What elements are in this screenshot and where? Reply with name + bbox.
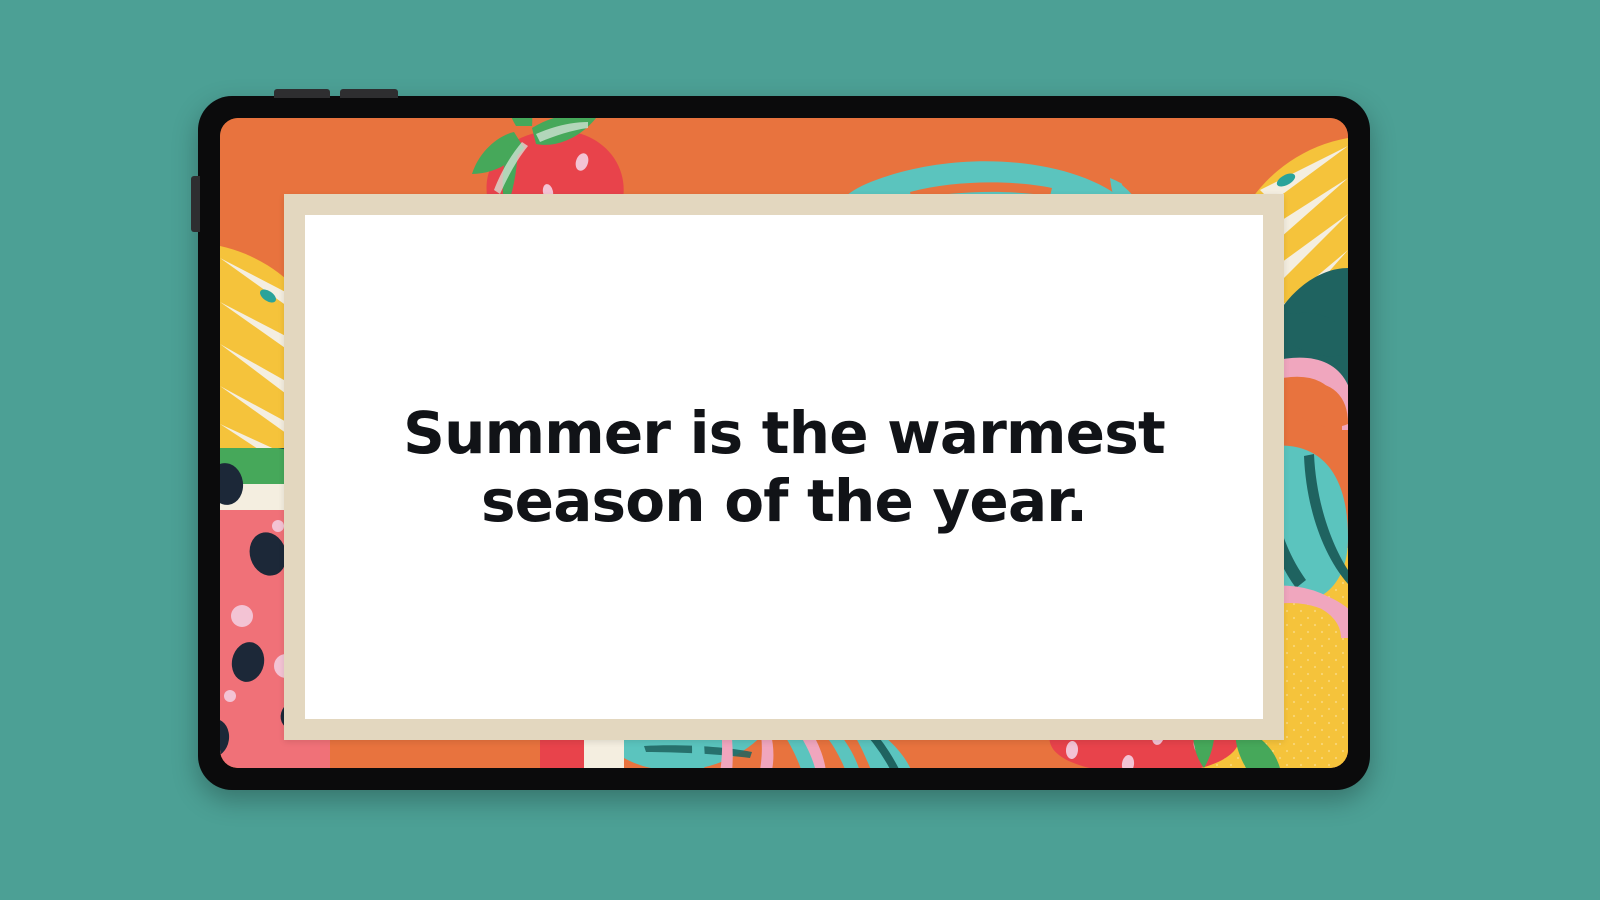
screenshot-stage: Summer is the warmest season of the year…	[0, 0, 1600, 900]
slide-card[interactable]: Summer is the warmest season of the year…	[284, 194, 1284, 740]
volume-up-button[interactable]	[274, 89, 330, 98]
slide-page: Summer is the warmest season of the year…	[305, 215, 1263, 719]
slide-heading: Summer is the warmest season of the year…	[372, 399, 1196, 536]
volume-down-button[interactable]	[340, 89, 398, 98]
power-button[interactable]	[191, 176, 200, 232]
tablet-screen[interactable]: Summer is the warmest season of the year…	[220, 118, 1348, 768]
tablet-device: Summer is the warmest season of the year…	[198, 96, 1370, 790]
